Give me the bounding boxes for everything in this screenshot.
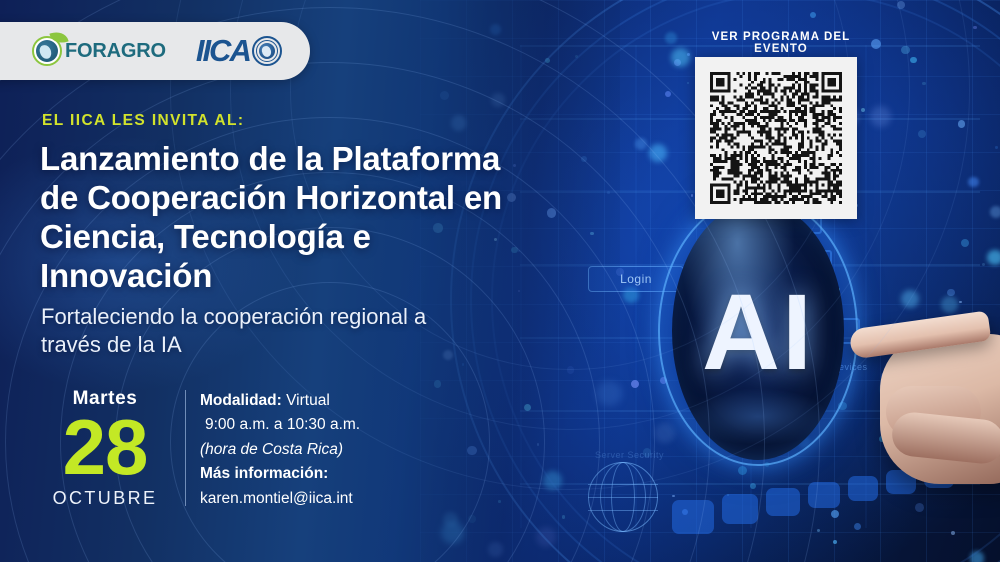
detail-modality: Modalidad: Virtual [200, 389, 480, 413]
detail-timezone: (hora de Costa Rica) [200, 438, 480, 462]
foragro-globe-leaf-icon [32, 36, 62, 66]
logo-bar: FORAGRO IICA [0, 22, 310, 80]
detail-time: 9:00 a.m. a 10:30 a.m. [200, 413, 480, 437]
qr-code-image[interactable] [710, 72, 842, 204]
vertical-divider [185, 390, 186, 506]
subtitle: Fortaleciendo la cooperación regional a … [41, 303, 441, 359]
qr-code-panel[interactable] [695, 57, 857, 219]
event-details: Modalidad: Virtual 9:00 a.m. a 10:30 a.m… [200, 389, 480, 511]
page-title: Lanzamiento de la Plataforma de Cooperac… [40, 140, 510, 296]
foragro-logo: FORAGRO [32, 36, 166, 66]
iica-logo: IICA [196, 33, 282, 69]
contact-email[interactable]: karen.montiel@iica.int [200, 487, 480, 511]
modality-value: Virtual [286, 392, 330, 409]
qr-label: VER PROGRAMA DEL EVENTO [686, 31, 876, 55]
kicker-text: EL IICA LES INVITA AL: [42, 112, 244, 130]
more-info-label: Más información: [200, 462, 480, 486]
event-poster: Devices Server Security Login AI [0, 0, 1000, 562]
date-month: OCTUBRE [30, 488, 180, 509]
date-block: Martes 28 OCTUBRE [30, 388, 180, 509]
modality-label: Modalidad: [200, 392, 282, 409]
date-day-number: 28 [30, 412, 180, 484]
iica-seal-icon [252, 36, 282, 66]
foragro-logo-text: FORAGRO [65, 40, 166, 63]
iica-logo-text: IICA [196, 33, 250, 69]
